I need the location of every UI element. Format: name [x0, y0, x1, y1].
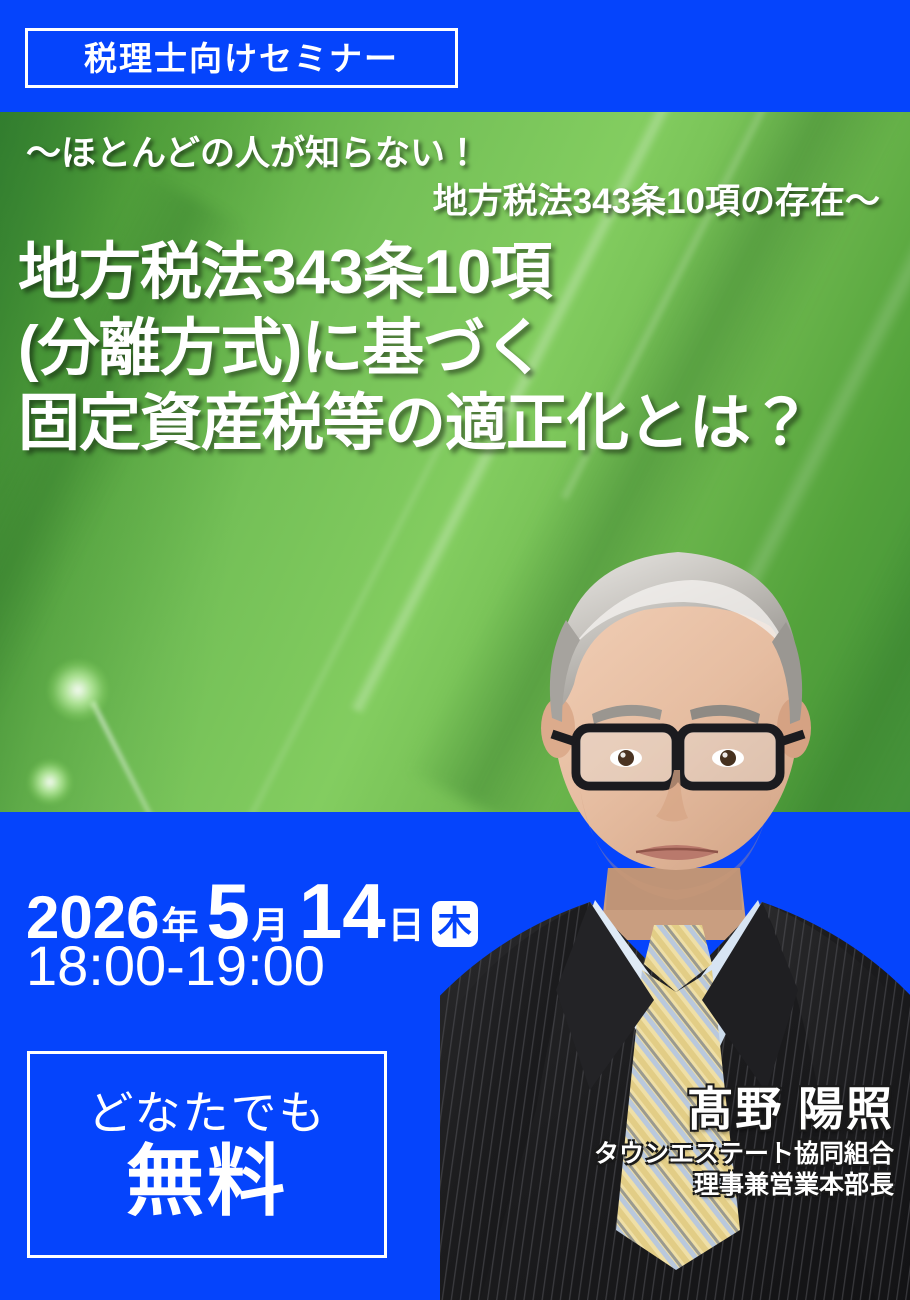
- hero-title-line-2: (分離方式)に基づく: [18, 311, 910, 387]
- event-time: 18:00-19:00: [26, 938, 325, 994]
- seminar-poster: 税理士向けセミナー 〜ほとんどの人が知らない！ 地方税法343条10項の存在〜 …: [0, 0, 910, 1300]
- background-bokeh-dot: [28, 760, 72, 804]
- seminar-category-badge: 税理士向けセミナー: [25, 28, 458, 88]
- seminar-category-label: 税理士向けセミナー: [84, 42, 399, 75]
- event-day-of-week-badge: 木: [432, 901, 478, 947]
- background-bokeh-dot: [48, 660, 108, 720]
- hero-subtitle-line-1: 〜ほとんどの人が知らない！: [0, 130, 880, 178]
- hero-subtitle-line-2: 地方税法343条10項の存在〜: [0, 178, 880, 226]
- speaker-title: 理事兼営業本部長: [594, 1170, 894, 1201]
- event-day-unit: 日: [388, 907, 425, 944]
- admission-audience: どなたでも: [87, 1090, 326, 1136]
- hero-title: 地方税法343条10項 (分離方式)に基づく 固定資産税等の適正化とは？: [18, 235, 910, 462]
- speaker-name: 髙野 陽照: [594, 1084, 894, 1135]
- background-bokeh-tail: [90, 701, 226, 812]
- hero-title-line-1: 地方税法343条10項: [18, 235, 910, 311]
- admission-box: どなたでも 無料: [27, 1051, 387, 1258]
- hero-subtitle: 〜ほとんどの人が知らない！ 地方税法343条10項の存在〜: [0, 130, 880, 227]
- speaker-caption: 髙野 陽照 タウンエステート協同組合 理事兼営業本部長: [594, 1084, 894, 1201]
- hero-title-line-3: 固定資産税等の適正化とは？: [18, 386, 910, 462]
- speaker-organization: タウンエステート協同組合: [594, 1139, 894, 1170]
- admission-price: 無料: [126, 1142, 288, 1220]
- header-band: 税理士向けセミナー: [0, 0, 910, 112]
